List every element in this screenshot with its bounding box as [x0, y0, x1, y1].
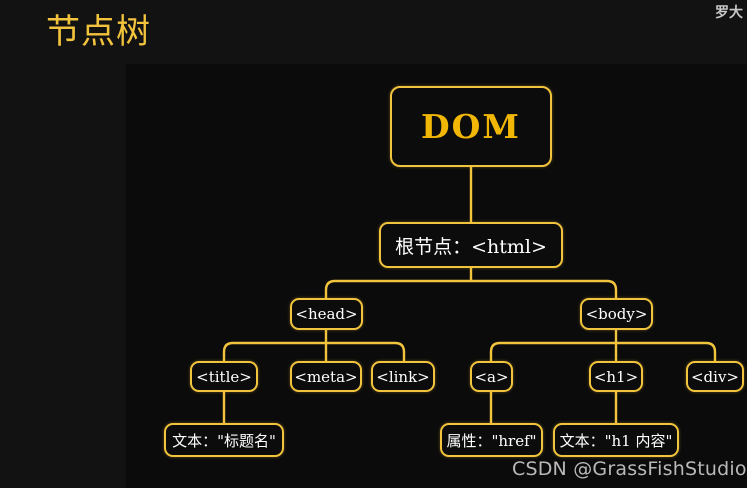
node-body[interactable]: <body>	[580, 298, 653, 330]
node-a[interactable]: <a>	[470, 361, 513, 392]
node-link[interactable]: <link>	[371, 361, 435, 392]
node-head-label: <head>	[295, 305, 357, 323]
node-body-label: <body>	[586, 305, 648, 323]
node-dom-label: DOM	[421, 107, 521, 146]
node-a-attr[interactable]: 属性："href"	[440, 423, 543, 457]
node-html[interactable]: 根节点：<html>	[379, 222, 563, 268]
node-a-attr-label: 属性："href"	[446, 430, 536, 451]
node-title-text-label: 文本："标题名"	[172, 430, 276, 451]
node-a-label: <a>	[474, 368, 508, 386]
node-div-label: <div>	[691, 368, 739, 386]
node-title[interactable]: <title>	[190, 361, 258, 392]
node-title-label: <title>	[196, 368, 252, 386]
node-html-label: 根节点：<html>	[395, 232, 547, 259]
node-meta-label: <meta>	[294, 368, 357, 386]
node-meta[interactable]: <meta>	[290, 361, 362, 392]
node-div[interactable]: <div>	[686, 361, 744, 392]
slide-canvas: 节点树 罗大 DOM 根节点：<html>	[0, 0, 747, 488]
node-title-text[interactable]: 文本："标题名"	[164, 423, 284, 457]
watermark: CSDN @GrassFishStudio	[512, 458, 747, 480]
corner-author-label: 罗大	[715, 2, 747, 22]
node-dom[interactable]: DOM	[390, 86, 552, 167]
node-link-label: <link>	[376, 368, 429, 386]
page-title: 节点树	[46, 10, 151, 54]
node-h1-label: <h1>	[594, 368, 638, 386]
node-h1[interactable]: <h1>	[589, 361, 643, 392]
node-h1-text[interactable]: 文本："h1 内容"	[553, 423, 679, 457]
node-h1-text-label: 文本："h1 内容"	[560, 430, 673, 451]
node-head[interactable]: <head>	[290, 298, 363, 330]
